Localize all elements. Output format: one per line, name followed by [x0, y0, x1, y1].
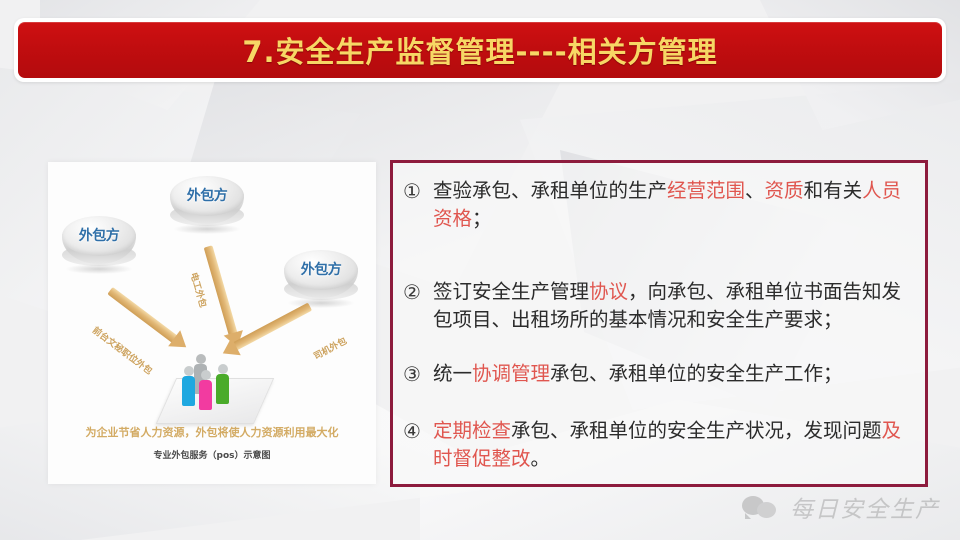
- person-body: [216, 374, 229, 404]
- plain-text: ；: [472, 207, 492, 230]
- plain-text: 承包、承租单位的安全生产工作；: [550, 362, 843, 385]
- bullet-text: 查验承包、承租单位的生产经营范围、资质和有关人员资格；: [433, 177, 913, 234]
- bullet-spacer: [403, 393, 913, 417]
- title-banner-inner: 7.安全生产监督管理----相关方管理: [18, 22, 942, 78]
- watermark-text: 每日安全生产: [790, 490, 940, 524]
- person-figure-green: [216, 364, 229, 404]
- diagram-hub-people: [166, 350, 262, 424]
- content-box: ① 查验承包、承租单位的生产经营范围、资质和有关人员资格； ② 签订安全生产管理…: [390, 160, 928, 487]
- page-title: 7.安全生产监督管理----相关方管理: [242, 29, 717, 71]
- cylinder-shadow: [174, 224, 240, 234]
- person-figure-blue: [182, 366, 195, 406]
- bullet-item-3: ③ 统一协调管理承包、承租单位的安全生产工作；: [403, 360, 913, 389]
- diagram-node-outsourcer-right: 外包方: [284, 250, 358, 310]
- diagram-arrow-icon: [232, 303, 312, 351]
- bullet-item-2: ② 签订安全生产管理协议，向承包、承租单位书面告知发包项目、出租场所的基本情况和…: [403, 278, 913, 335]
- wechat-bubble-small: [757, 502, 776, 518]
- bullet-text: 统一协调管理承包、承租单位的安全生产工作；: [433, 360, 913, 388]
- cylinder-shadow: [66, 264, 132, 274]
- diagram-node-label: 外包方: [170, 185, 244, 205]
- wechat-icon: [742, 494, 782, 520]
- plain-text: 签订安全生产管理: [433, 280, 589, 303]
- highlighted-text: 定期检查: [433, 419, 511, 442]
- bullet-spacer: [403, 238, 913, 278]
- pos-terminal-pad: [156, 378, 274, 424]
- person-head: [196, 354, 206, 364]
- plain-text: 、: [745, 179, 765, 202]
- person-head: [218, 364, 228, 374]
- highlighted-text: 协议: [589, 280, 628, 303]
- diagram-arrow-icon: [204, 245, 238, 336]
- bullet-item-1: ① 查验承包、承租单位的生产经营范围、资质和有关人员资格；: [403, 177, 913, 234]
- diagram-node-label: 外包方: [62, 225, 136, 245]
- person-head: [201, 370, 211, 380]
- person-head: [184, 366, 194, 376]
- plain-text: 查验承包、承租单位的生产: [433, 179, 667, 202]
- bullet-text: 签订安全生产管理协议，向承包、承租单位书面告知发包项目、出租场所的基本情况和安全…: [433, 278, 913, 335]
- diagram-arrow-icon: [107, 287, 178, 344]
- diagram-arrow-label: 电工外包: [188, 271, 210, 309]
- diagram-caption: 为企业节省人力资源，外包将使人力资源利用最大化: [48, 424, 376, 440]
- plain-text: 。: [531, 447, 551, 470]
- slide-canvas: 7.安全生产监督管理----相关方管理 外包方 外包方 外包方: [0, 0, 960, 540]
- bullet-item-4: ④ 定期检查承包、承租单位的安全生产状况，发现问题及时督促整改。: [403, 417, 913, 474]
- person-body: [182, 376, 195, 406]
- diagram-node-label: 外包方: [284, 259, 358, 279]
- bullet-number: ①: [403, 177, 433, 206]
- bullet-number: ③: [403, 360, 433, 389]
- highlighted-text: 协调管理: [472, 362, 550, 385]
- plain-text: 统一: [433, 362, 472, 385]
- bullet-text: 定期检查承包、承租单位的安全生产状况，发现问题及时督促整改。: [433, 417, 913, 474]
- bullet-number: ④: [403, 417, 433, 446]
- plain-text: 和有关: [804, 179, 863, 202]
- bullet-spacer: [403, 338, 913, 360]
- diagram-arrow-label: 司机外包: [311, 334, 349, 362]
- title-banner: 7.安全生产监督管理----相关方管理: [14, 18, 946, 82]
- bullet-number: ②: [403, 278, 433, 307]
- plain-text: 承包、承租单位的安全生产状况，发现问题: [511, 419, 882, 442]
- diagram-node-outsourcer-left: 外包方: [62, 216, 136, 276]
- highlighted-text: 资质: [765, 179, 804, 202]
- outsourcing-diagram: 外包方 外包方 外包方 前台文秘职位外包 电工外包 司机外包: [48, 162, 376, 484]
- diagram-subcaption: 专业外包服务（pos）示意图: [48, 448, 376, 461]
- watermark: 每日安全生产: [742, 490, 940, 524]
- person-body: [199, 380, 212, 410]
- diagram-arrow-label: 前台文秘职位外包: [90, 323, 155, 377]
- highlighted-text: 经营范围: [667, 179, 745, 202]
- person-figure-pink: [199, 370, 212, 410]
- diagram-node-outsourcer-top: 外包方: [170, 176, 244, 236]
